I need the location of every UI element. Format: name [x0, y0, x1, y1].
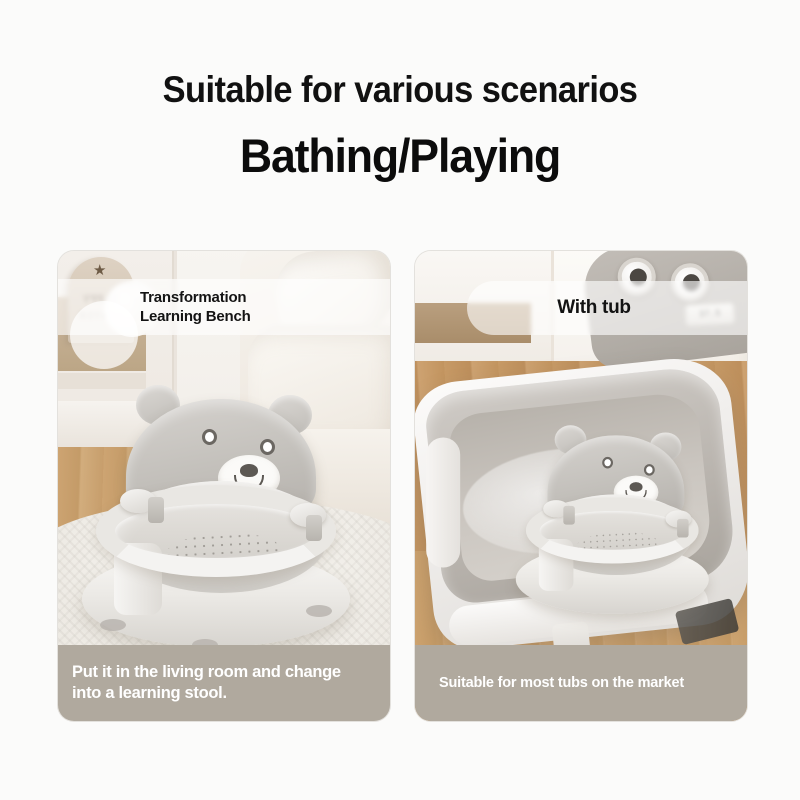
rail-hinge-left: [148, 497, 164, 523]
bear-bath-seat-product: [92, 393, 362, 663]
heading-block: Suitable for various scenarios Bathing/P…: [0, 70, 800, 181]
caption-text: Suitable for most tubs on the market: [439, 674, 684, 693]
cabinet-shelf: [58, 373, 146, 389]
badge-with-tub: With tub: [467, 281, 748, 335]
badge-label: Transformation Learning Bench: [140, 288, 251, 326]
rail-hinge-left: [563, 506, 575, 525]
scenario-card-living-room[interactable]: HAPPY WINTER: [57, 250, 391, 722]
bear-bath-seat-product: [523, 431, 660, 568]
bear-eye-left: [202, 429, 217, 445]
caption-text: Put it in the living room and change int…: [72, 662, 341, 704]
suction-cup-right: [306, 605, 332, 617]
bear-eye-right: [644, 464, 655, 476]
suction-cup-left: [100, 619, 126, 631]
rail-hinge-right: [306, 515, 322, 541]
caption-living-room: Put it in the living room and change int…: [58, 645, 391, 721]
bear-eye-left: [602, 457, 613, 469]
rail-hinge-right: [677, 519, 689, 538]
badge-transformation-learning-bench: Transformation Learning Bench: [58, 279, 391, 335]
page-title: Bathing/Playing: [20, 131, 780, 180]
scenario-card-with-tub[interactable]: 37.5: [414, 250, 748, 722]
scenario-card-list: HAPPY WINTER: [57, 250, 757, 722]
page-eyebrow: Suitable for various scenarios: [28, 70, 772, 109]
caption-with-tub: Suitable for most tubs on the market: [415, 645, 748, 721]
promo-page: Suitable for various scenarios Bathing/P…: [0, 0, 800, 800]
bear-eye-right: [260, 439, 275, 455]
tub-side-band: [426, 438, 460, 568]
badge-label: With tub: [557, 297, 630, 319]
badge-cap: [70, 301, 138, 369]
